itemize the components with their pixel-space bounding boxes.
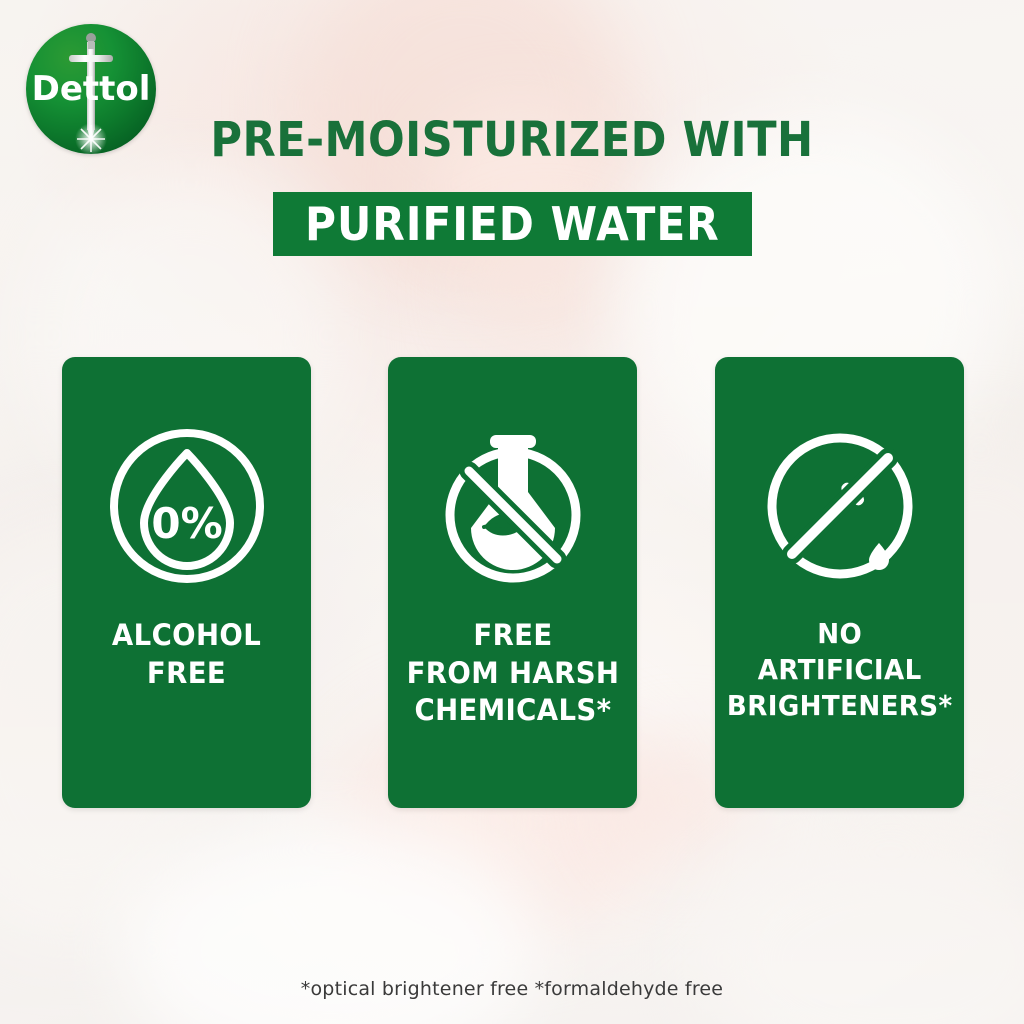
headline-banner-text: PURIFIED WATER bbox=[305, 197, 720, 251]
disclaimer-text: *optical brightener free *formaldehyde f… bbox=[0, 978, 1024, 1000]
feature-cards: 0% ALCOHOL FREE bbox=[0, 357, 1024, 808]
feature-card-no-artificial-brighteners[interactable]: NO ARTIFICIAL BRIGHTENERS* bbox=[715, 357, 964, 808]
no-harsh-chemicals-flask-icon bbox=[428, 421, 598, 591]
no-dropper-pipette-icon bbox=[755, 421, 925, 591]
page-title: PRE-MOISTURIZED WITH bbox=[51, 112, 973, 168]
label-line: ARTIFICIAL bbox=[727, 653, 953, 689]
feature-card-free-from-harsh-chemicals[interactable]: FREE FROM HARSH CHEMICALS* bbox=[388, 357, 637, 808]
feature-card-label: FREE FROM HARSH CHEMICALS* bbox=[399, 617, 627, 730]
feature-card-label: NO ARTIFICIAL BRIGHTENERS* bbox=[719, 617, 960, 724]
label-line: FROM HARSH bbox=[406, 655, 619, 693]
label-line: FREE bbox=[112, 655, 261, 693]
promo-canvas: Dettol PRE-MOISTURIZED WITH PURIFIED WAT… bbox=[0, 0, 1024, 1024]
label-line: NO bbox=[727, 617, 953, 653]
water-drop-zero-percent-icon: 0% bbox=[102, 421, 272, 591]
label-line: FREE bbox=[406, 617, 619, 655]
label-line: ALCOHOL bbox=[112, 617, 261, 655]
label-line: BRIGHTENERS* bbox=[727, 689, 953, 725]
headline-banner: PURIFIED WATER bbox=[273, 192, 752, 256]
feature-card-label: ALCOHOL FREE bbox=[104, 617, 268, 692]
zero-percent-label: 0% bbox=[151, 499, 222, 548]
logo-wordmark: Dettol bbox=[32, 69, 151, 109]
feature-card-alcohol-free[interactable]: 0% ALCOHOL FREE bbox=[62, 357, 311, 808]
label-line: CHEMICALS* bbox=[406, 692, 619, 730]
